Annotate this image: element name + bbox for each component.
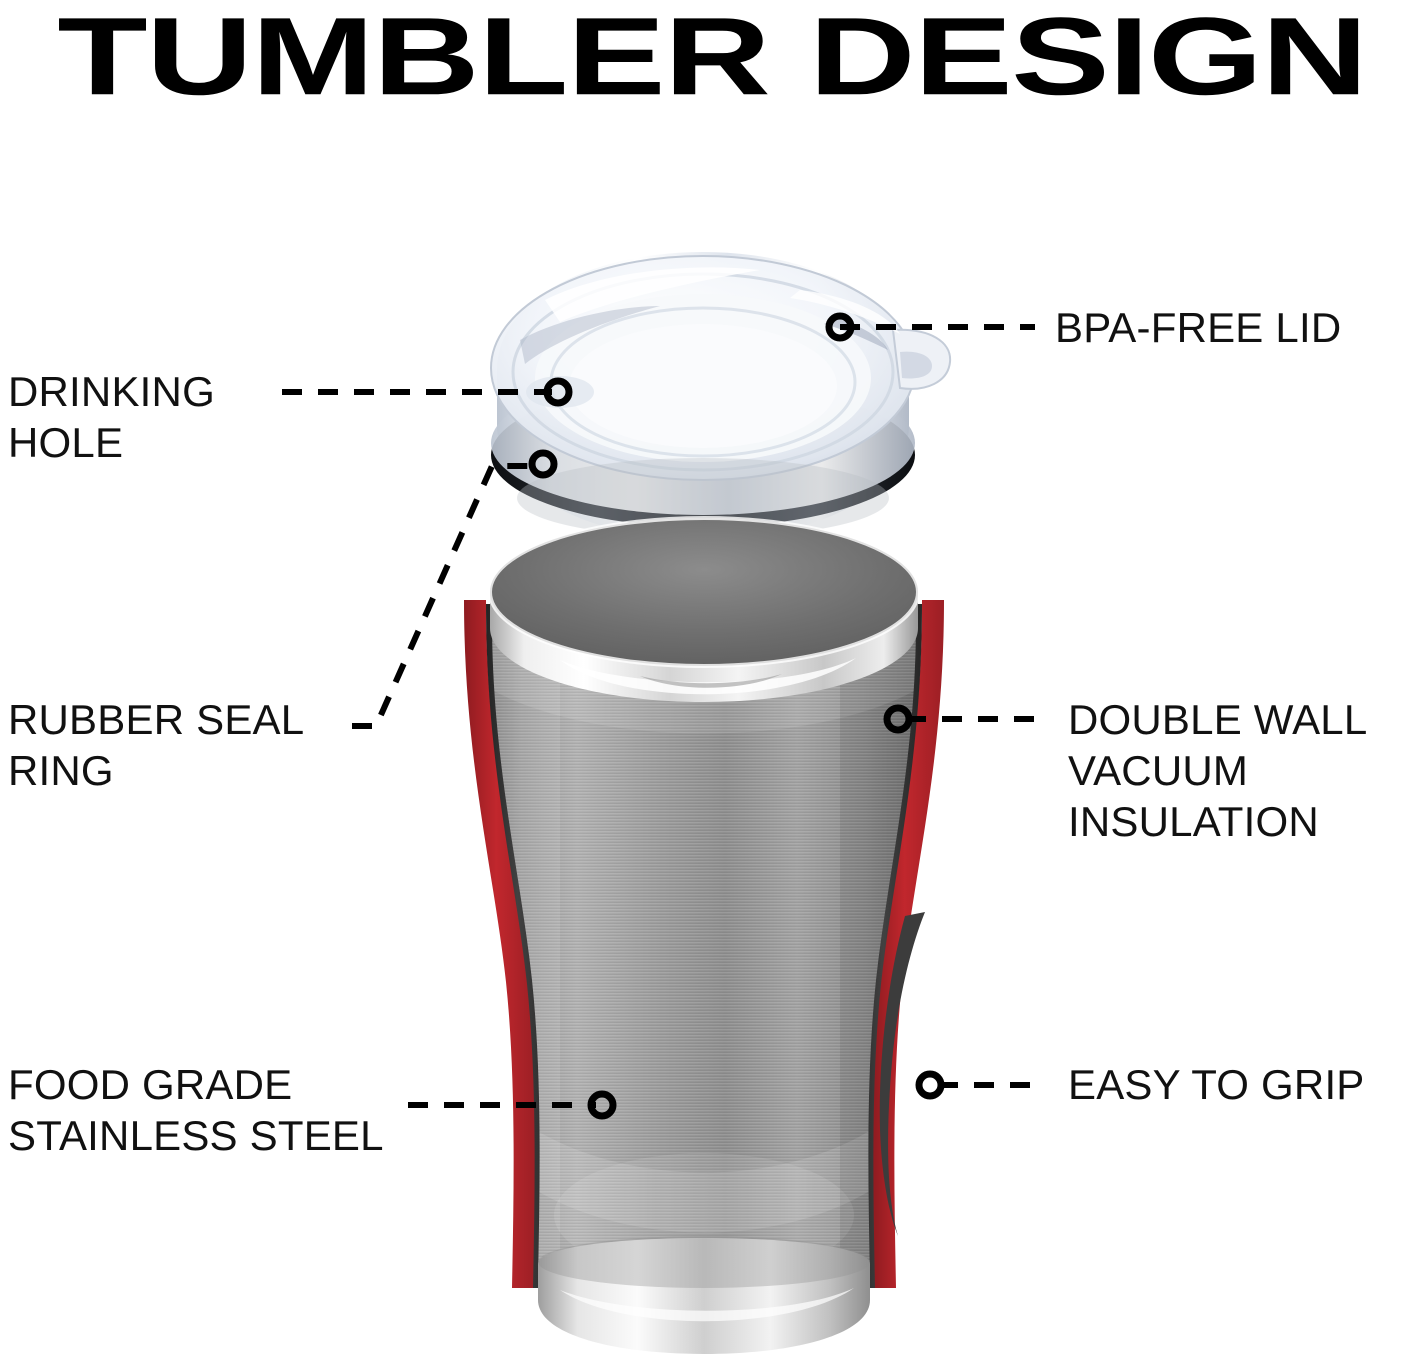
callout-label-rubber-seal-ring: RUBBER SEAL RING bbox=[8, 694, 438, 796]
callout-label-double-wall-vacuum-insulation: DOUBLE WALL VACUUM INSULATION bbox=[1068, 694, 1424, 847]
callout-label-bpa-free-lid: BPA-FREE LID bbox=[1055, 302, 1424, 353]
callout-label-drinking-hole: DRINKING HOLE bbox=[8, 366, 438, 468]
callout-label-food-grade-stainless-steel: FOOD GRADE STAINLESS STEEL bbox=[8, 1059, 468, 1161]
tumbler-lid bbox=[491, 252, 950, 540]
tumbler-illustration bbox=[0, 0, 1424, 1369]
infographic-page: TUMBLER DESIGN bbox=[0, 0, 1424, 1369]
callout-label-easy-to-grip: EASY TO GRIP bbox=[1068, 1059, 1424, 1110]
tumbler-body bbox=[464, 518, 950, 1354]
drinking-hole-opening bbox=[526, 376, 594, 408]
